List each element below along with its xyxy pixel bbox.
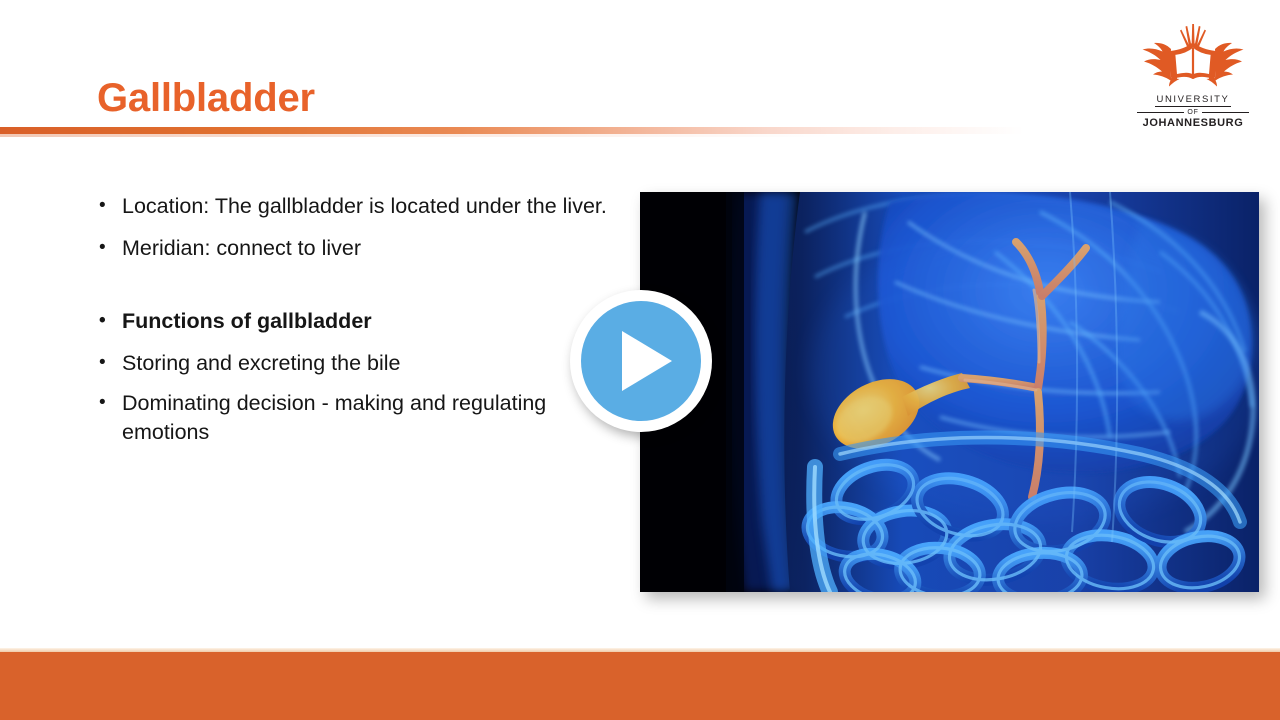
anatomy-illustration: [640, 192, 1259, 592]
footer-bar: [0, 652, 1280, 720]
play-button-circle: [581, 301, 701, 421]
bullet-item-functions-heading: Functions of gallbladder: [95, 307, 635, 336]
play-button[interactable]: [570, 290, 712, 432]
bullet-item-dominating-decision: Dominating decision - making and regulat…: [95, 389, 635, 447]
video-thumbnail[interactable]: [640, 192, 1259, 592]
abdomen-xray-image: [640, 192, 1259, 592]
play-triangle-icon: [622, 331, 672, 391]
logo-rule-left: [1137, 112, 1184, 113]
slide: Gallbladder: [0, 0, 1280, 720]
bullet-item-location: Location: The gallbladder is located und…: [95, 192, 635, 221]
uj-crest-icon: [1141, 22, 1245, 88]
logo-of-line: OF: [1137, 108, 1249, 117]
page-title: Gallbladder: [97, 78, 315, 118]
logo-university-line: UNIVERSITY: [1137, 89, 1249, 107]
logo-city-line: JOHANNESBURG: [1137, 117, 1249, 130]
bullet-item-meridian: Meridian: connect to liver: [95, 234, 635, 263]
university-logo: UNIVERSITY OF JOHANNESBURG: [1134, 22, 1252, 132]
bullet-item-storing-bile: Storing and excreting the bile: [95, 349, 635, 378]
title-divider: [0, 127, 1280, 134]
bullet-list: Location: The gallbladder is located und…: [95, 192, 635, 460]
logo-rule-right: [1202, 112, 1249, 113]
